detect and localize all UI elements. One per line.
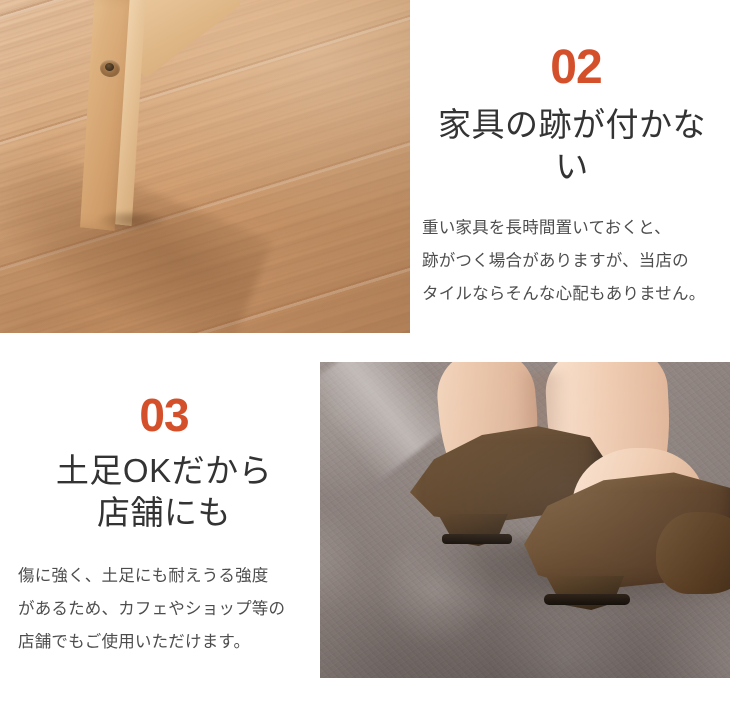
concrete-vignette — [320, 362, 730, 678]
feature-number-02: 02 — [430, 44, 722, 92]
feature-headline-03: 土足OKだから 店舗にも — [8, 450, 320, 534]
feature-block-02: 02 家具の跡が付かない 重い家具を長時間置いておくと、 跡がつく場合があります… — [422, 44, 722, 311]
feature-headline-03-line-1: 土足OKだから — [8, 450, 320, 492]
feature-body-02-line-3: タイルならそんな心配もありません。 — [422, 278, 722, 311]
feature-body-02: 重い家具を長時間置いておくと、 跡がつく場合がありますが、当店の タイルならそん… — [422, 212, 722, 311]
feature-headline-03-line-2: 店舗にも — [8, 492, 320, 534]
feature-block-03: 03 土足OKだから 店舗にも 傷に強く、土足にも耐えうる強度 があるため、カフ… — [0, 392, 320, 659]
photo-wood-floor-chair-leg — [0, 0, 410, 333]
feature-body-03-line-2: があるため、カフェやショップ等の — [18, 593, 320, 626]
feature-body-02-line-2: 跡がつく場合がありますが、当店の — [422, 245, 722, 278]
wood-floor-sheen — [0, 0, 410, 333]
feature-body-03-line-3: 店舗でもご使用いただけます。 — [18, 626, 320, 659]
feature-body-02-line-1: 重い家具を長時間置いておくと、 — [422, 212, 722, 245]
feature-headline-02: 家具の跡が付かない — [422, 104, 722, 188]
feature-body-03-line-1: 傷に強く、土足にも耐えうる強度 — [18, 560, 320, 593]
feature-section: 02 家具の跡が付かない 重い家具を長時間置いておくと、 跡がつく場合があります… — [0, 0, 730, 718]
chair-leg-foot-shadow — [96, 212, 168, 232]
feature-number-03: 03 — [8, 392, 320, 438]
photo-shoes-on-concrete — [320, 362, 730, 678]
feature-body-03: 傷に強く、土足にも耐えうる強度 があるため、カフェやショップ等の 店舗でもご使用… — [18, 560, 320, 659]
